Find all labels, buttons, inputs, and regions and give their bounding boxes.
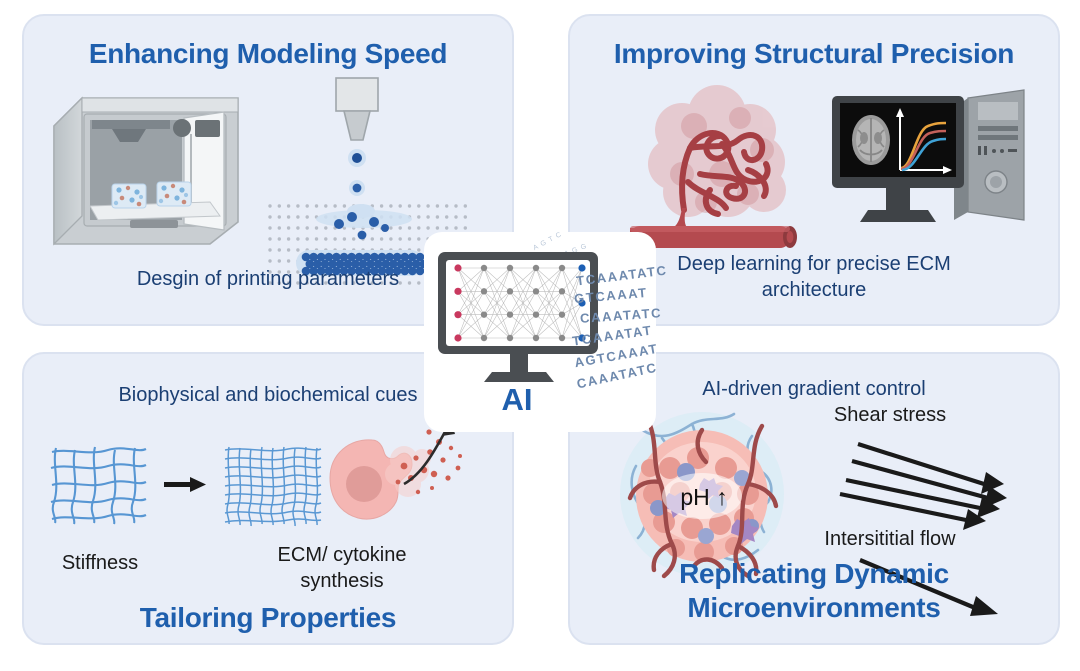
arrow-right-icon xyxy=(164,476,208,494)
label-ecm-line2: synthesis xyxy=(192,568,492,594)
bioprinter-icon xyxy=(42,84,247,256)
label-ph: pH ↑ xyxy=(668,484,740,511)
coarse-mesh-icon xyxy=(46,444,151,526)
panel-title-bottom-right-line2: Microenvironments xyxy=(570,592,1058,624)
dna-scatter-1: A G T C xyxy=(532,231,563,252)
panel-title-bottom-left: Tailoring Properties xyxy=(24,602,512,634)
label-interstitial-flow: Intersititial flow xyxy=(740,526,1040,552)
label-ecm-line1: ECM/ cytokine xyxy=(192,542,492,568)
panel-title-top-right: Improving Structural Precision xyxy=(570,38,1058,70)
panel-title-bottom-right-line1: Replicating Dynamic xyxy=(570,558,1058,590)
shear-arrows-icon xyxy=(838,436,1038,521)
ai-center-card: A G T C C T A G G A G T C A AI TCAAATATC… xyxy=(424,232,656,432)
fine-mesh-icon xyxy=(220,444,325,526)
tumor-vasculature-icon xyxy=(622,78,812,258)
desktop-computer-icon xyxy=(828,86,1040,246)
figure-canvas: Enhancing Modeling Speed xyxy=(0,0,1080,671)
label-shear-stress: Shear stress xyxy=(740,402,1040,428)
panel-title-top-left: Enhancing Modeling Speed xyxy=(24,38,512,70)
